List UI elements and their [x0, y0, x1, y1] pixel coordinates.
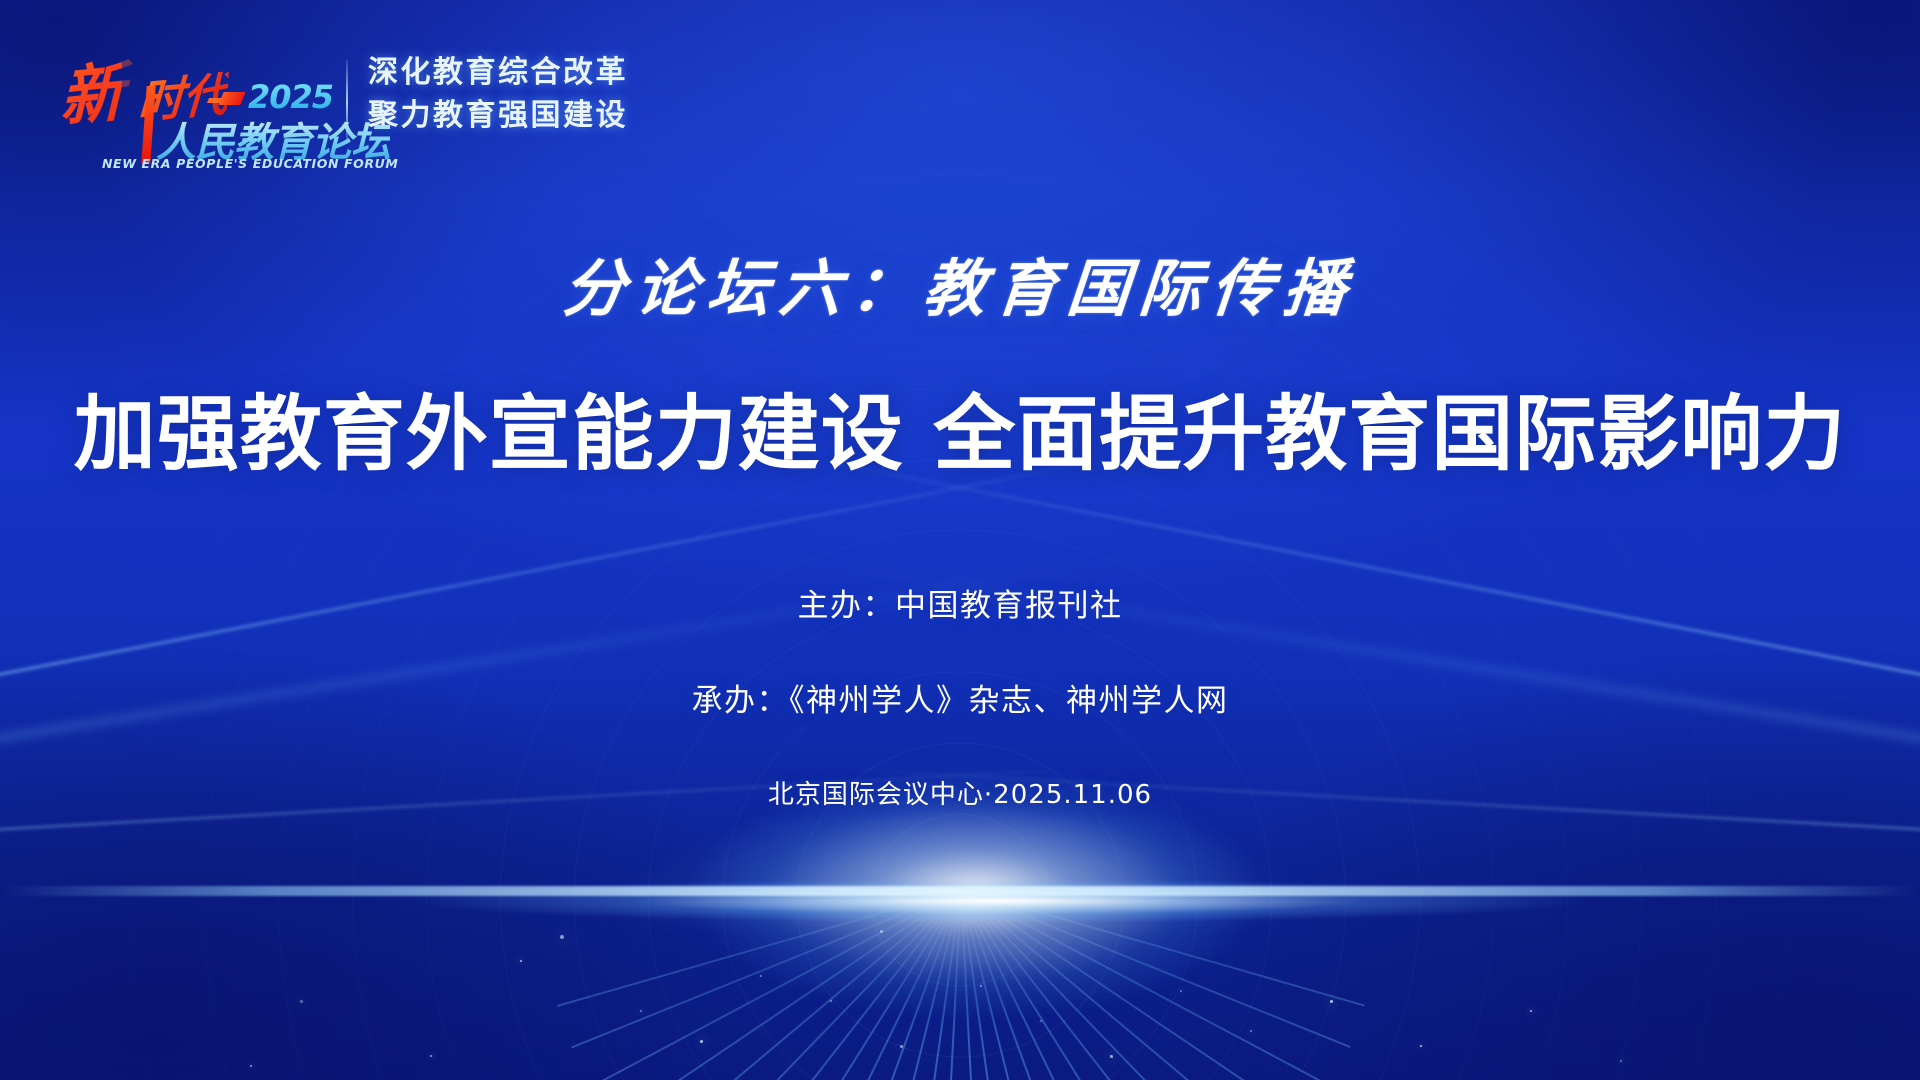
logo-red-stripe-icon: [218, 92, 245, 105]
forum-logo-mark: 新 时代 2025 人民教育论坛 NEW ERA PEOPLE'S EDUCAT…: [58, 42, 326, 174]
header-slogan: 深化教育综合改革 聚力教育强国建设: [368, 52, 628, 137]
horizon-line: [0, 886, 1920, 896]
subforum-title: 分论坛六：教育国际传播: [0, 238, 1920, 328]
logo-xin-character: 新: [60, 41, 122, 140]
poster-canvas: 新 时代 2025 人民教育论坛 NEW ERA PEOPLE'S EDUCAT…: [0, 0, 1920, 1080]
forum-logo-block: 新 时代 2025 人民教育论坛 NEW ERA PEOPLE'S EDUCAT…: [58, 42, 628, 174]
venue-date-line: 北京国际会议中心·2025.11.06: [0, 774, 1920, 811]
slogan-line-1: 深化教育综合改革: [368, 52, 628, 95]
slogan-line-2: 聚力教育强国建设: [368, 95, 628, 138]
credits-block: 主办：中国教育报刊社 承办：《神州学人》杂志、神州学人网 北京国际会议中心·20…: [0, 580, 1920, 811]
host-line: 主办：中国教育报刊社: [0, 580, 1920, 625]
logo-red-stripe-small-icon: [207, 98, 222, 103]
organizer-line: 承办：《神州学人》杂志、神州学人网: [0, 675, 1920, 720]
horizon-glow: [0, 866, 1920, 936]
perspective-floor-lines: [0, 890, 1920, 1080]
logo-forum-name-en: NEW ERA PEOPLE'S EDUCATION FORUM: [102, 156, 398, 171]
page-title: 加强教育外宣能力建设 全面提升教育国际影响力: [0, 392, 1920, 479]
